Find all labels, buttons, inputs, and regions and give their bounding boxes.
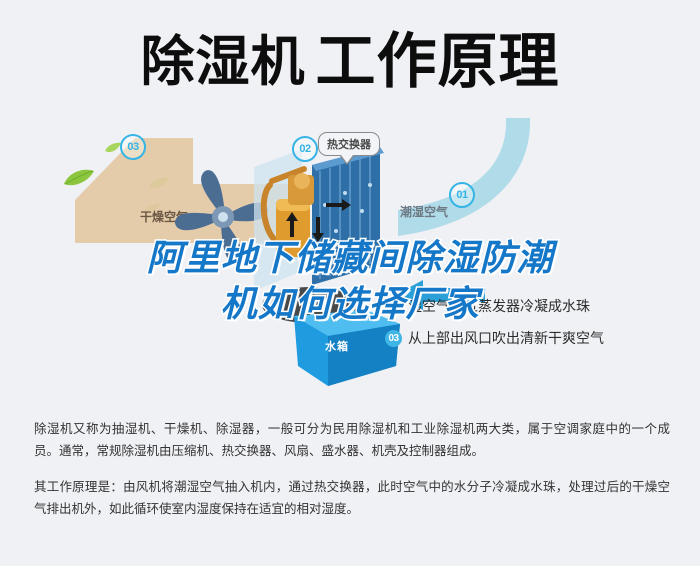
badge-step-03: 03 [120, 134, 146, 160]
page-title: 除湿机 工作原理 [0, 22, 700, 102]
infographic-page: 除湿机 工作原理 [0, 0, 700, 566]
humid-air-arrow [380, 118, 680, 258]
body-text: 除湿机又称为抽湿机、干燥机、除湿器，一般可分为民用除湿机和工业除湿机两大类，属于… [34, 418, 670, 534]
step-number: 02 [385, 298, 402, 315]
step-text: 从上部出风口吹出清新干爽空气 [408, 328, 604, 348]
step-number: 03 [385, 330, 402, 347]
list-item: 02 湿空气经过蒸发器冷凝成水珠 [385, 296, 685, 316]
badge-step-01: 01 [449, 182, 475, 208]
heat-exchanger-callout: 热交换器 [318, 132, 380, 156]
badge-step-02: 02 [292, 136, 318, 162]
paragraph-definition: 除湿机又称为抽湿机、干燥机、除湿器，一般可分为民用除湿机和工业除湿机两大类，属于… [34, 418, 670, 462]
water-tank-label: 水箱 [325, 338, 349, 354]
title-part-dehumidifier: 除湿机 [141, 35, 306, 89]
step-text: 湿空气经过蒸发器冷凝成水珠 [408, 296, 590, 316]
step-list: 02 湿空气经过蒸发器冷凝成水珠 03 从上部出风口吹出清新干爽空气 [385, 296, 685, 360]
list-item: 03 从上部出风口吹出清新干爽空气 [385, 328, 685, 348]
title-part-principle: 工作原理 [316, 32, 560, 92]
paragraph-principle: 其工作原理是：由风机将潮湿空气抽入机内，通过热交换器，此时空气中的水分子冷凝成水… [34, 476, 670, 520]
